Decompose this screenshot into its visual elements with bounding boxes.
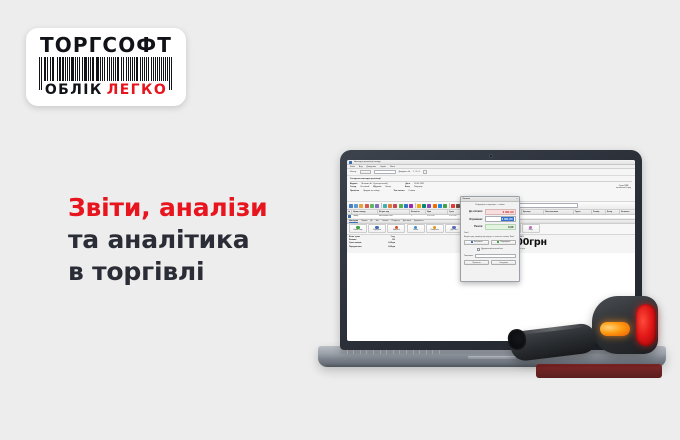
table-column-header[interactable]: Назва товару	[352, 210, 378, 214]
totals-row: Передоплата:0,00грн	[349, 246, 395, 249]
tab-3[interactable]: Звіт	[375, 220, 378, 222]
dialog-hint-text: Введіть суму, отриману від покупця, та н…	[461, 234, 519, 238]
headline-line-3: в торгівлі	[68, 256, 308, 288]
tab-2[interactable]: Дії	[370, 220, 372, 222]
calculate-button[interactable]: Розрахувати	[491, 240, 516, 245]
function-button-label: Редагувати	[373, 230, 381, 232]
headline-line-2: та аналітика	[68, 224, 308, 256]
function-button-label: Друк чека	[451, 230, 458, 232]
doc-label: Документ №	[399, 171, 411, 173]
tab-5[interactable]: Покупець	[391, 220, 399, 222]
refresh-button[interactable]	[360, 170, 371, 174]
form-section-title: Складська накладна реалізації	[350, 178, 381, 180]
table-column-header[interactable]: Колір	[606, 210, 620, 214]
copy-icon[interactable]	[383, 204, 387, 208]
row-select-icon[interactable]	[348, 215, 351, 218]
form-label-3: Склад	[350, 186, 356, 188]
form-value-5[interactable]: Готівка	[409, 190, 415, 192]
close-icon[interactable]: ×	[516, 198, 517, 200]
form-label-1: Кому	[405, 186, 410, 188]
cell-qty: 1	[410, 215, 426, 217]
received-label: Отримано:	[464, 218, 483, 221]
function-button[interactable]: Видалити	[387, 224, 405, 232]
preview-icon[interactable]	[370, 204, 374, 208]
function-button-label: Знижка	[413, 230, 418, 232]
filter-label: Фільтр:	[350, 171, 357, 173]
change-value: 0,00	[485, 224, 517, 230]
payment-dialog[interactable]: Оплата × Розрахунок з покупцем — готівка…	[460, 196, 520, 282]
cell-name: Товар	[352, 215, 378, 217]
logo-card: ТОРГСОФТ ОБЛІКЛЕГКО	[26, 28, 186, 106]
table-column-header[interactable]: Ціна	[426, 210, 448, 214]
word-icon[interactable]	[438, 204, 442, 208]
function-button[interactable]: Редагувати	[368, 224, 386, 232]
calculate-label: Розрахувати	[500, 241, 510, 243]
plus-icon	[356, 226, 359, 229]
function-button[interactable]: Повернення	[426, 224, 444, 232]
menu-item-view[interactable]: Вид	[359, 166, 363, 168]
page-title: Звіти, аналізи та аналітика в торгівлі	[68, 192, 308, 288]
received-value: 2 021,00	[501, 217, 514, 221]
table-column-header[interactable]: Артикул	[522, 210, 544, 214]
menu-item-service[interactable]: Сервіс	[380, 166, 386, 168]
print-icon[interactable]	[365, 204, 369, 208]
payment-type-select[interactable]	[475, 254, 516, 258]
barcode-scanner	[508, 292, 658, 380]
chart-icon[interactable]	[451, 204, 455, 208]
function-button[interactable]: Новий товар	[349, 224, 367, 232]
fiscal-receipt-label: Друкувати фіскальний чек	[481, 248, 503, 250]
menu-item-window[interactable]: Вікно	[390, 166, 395, 168]
form-label-5: Тип оплати	[393, 190, 404, 192]
form-label-0: Видано	[350, 183, 358, 185]
function-button[interactable]: Вихід	[522, 224, 540, 232]
doc-value: 1 / 1 / 0	[413, 171, 420, 173]
filter-bar[interactable]: Фільтр: Документ № 1 / 1 / 0	[347, 169, 635, 176]
totals-label: Передоплата:	[349, 246, 362, 249]
table-column-header[interactable]: Залишок	[620, 210, 635, 214]
due-label: До сплати:	[464, 210, 483, 213]
cell-barcode: 4820000012345	[378, 215, 410, 217]
function-button-label: Новий товар	[354, 230, 363, 232]
logo-tagline-red: ЛЕГКО	[105, 81, 169, 99]
dialog-title: Оплата	[463, 198, 470, 200]
function-button-label: Видалити	[393, 230, 400, 232]
filter-icon[interactable]	[409, 204, 413, 208]
save-icon[interactable]	[359, 204, 363, 208]
pdf-icon[interactable]	[443, 204, 447, 208]
excel-icon[interactable]	[433, 204, 437, 208]
totals-value: 0,00грн	[388, 246, 395, 249]
tab-1[interactable]: Товари	[361, 220, 367, 222]
table-column-header[interactable]: Штрих-код	[378, 210, 410, 214]
form-value-1[interactable]: Покупець	[414, 186, 423, 188]
scanner-window-icon	[636, 304, 656, 346]
sort-icon[interactable]	[417, 204, 421, 208]
open-icon[interactable]	[354, 204, 358, 208]
function-button-label: Повернення	[431, 230, 440, 232]
menu-item-file[interactable]: Файл	[350, 166, 355, 168]
due-value: 2 021,00	[485, 209, 517, 215]
promo-banner: ТОРГСОФТ ОБЛІКЛЕГКО Звіти, аналізи та ан…	[0, 0, 680, 440]
redo-icon[interactable]	[399, 204, 403, 208]
change-label: Решта:	[464, 225, 483, 228]
form-value-0[interactable]: Магазин № 1 (центральний)	[362, 183, 388, 185]
dialog-row-change: Решта: 0,00	[461, 223, 519, 231]
more-button[interactable]	[423, 170, 427, 174]
trash-icon	[395, 226, 398, 229]
headline-line-1: Звіти, аналізи	[68, 192, 308, 224]
app-title-text: Накладна реалізації товару	[354, 161, 381, 163]
no-change-label: Без решти	[474, 241, 482, 243]
cut-icon[interactable]	[375, 204, 379, 208]
new-icon[interactable]	[349, 204, 353, 208]
form-label-2: Дата	[406, 183, 411, 185]
function-button[interactable]: Знижка	[407, 224, 425, 232]
form-label-4: Від кого	[373, 186, 381, 188]
filter-input[interactable]	[374, 170, 396, 174]
refresh-icon[interactable]	[422, 204, 426, 208]
print-icon	[452, 226, 455, 229]
scanner-head	[592, 296, 658, 354]
cancel-button[interactable]: Скасувати	[491, 260, 516, 265]
toolbar-combo[interactable]	[516, 203, 578, 208]
exit-icon	[529, 226, 532, 229]
payment-type-label: Тип оплати:	[464, 255, 473, 257]
logo-tagline: ОБЛІКЛЕГКО	[26, 83, 186, 97]
tab-0[interactable]: Накладна	[349, 220, 358, 223]
received-input[interactable]: 2 021,00	[485, 216, 517, 222]
form-value-3[interactable]: Основний	[360, 186, 369, 188]
undo-icon[interactable]	[393, 204, 397, 208]
confirm-button[interactable]: Провести	[464, 260, 489, 265]
percent-icon	[414, 226, 417, 229]
return-icon	[433, 226, 436, 229]
dialog-row-due: До сплати: 2 021,00	[461, 208, 519, 216]
paste-icon[interactable]	[388, 204, 392, 208]
toolbar-separator	[381, 203, 382, 208]
form-value-4[interactable]: Касир	[385, 186, 391, 188]
form-value-2[interactable]: 18.05.2021	[414, 183, 424, 185]
logo-tagline-black: ОБЛІК	[43, 81, 105, 99]
dialog-row-received[interactable]: Отримано: 2 021,00	[461, 216, 519, 224]
edit-icon	[375, 226, 378, 229]
tab-7[interactable]: Документи	[414, 220, 423, 222]
document-icon	[349, 161, 352, 164]
tab-4[interactable]: Оплати	[382, 220, 389, 222]
menu-item-reference[interactable]: Довідники	[367, 166, 376, 168]
cell-price: 2 021,00	[426, 215, 448, 217]
totals-list: Кільк. сума:1 од.Знижка:0%Сума знижки:0,…	[349, 236, 395, 252]
export-icon[interactable]	[427, 204, 431, 208]
table-column-header[interactable]: Кількість	[410, 210, 426, 214]
function-button-label: Вихід	[529, 230, 533, 232]
form-label-6: Примітка	[350, 190, 359, 192]
tab-6[interactable]: Доставка	[403, 220, 411, 222]
find-icon[interactable]	[404, 204, 408, 208]
toolbar-separator	[415, 203, 416, 208]
logo-wordmark: ТОРГСОФТ	[26, 35, 186, 55]
scanner-mat	[536, 364, 662, 378]
toolbar-separator	[449, 203, 450, 208]
no-change-button[interactable]: Без решти	[464, 240, 489, 245]
table-column-header[interactable]: Група	[574, 210, 592, 214]
scanner-trigger-icon	[600, 322, 630, 336]
form-value-6[interactable]: Продаж за готівку	[363, 190, 379, 192]
camera-icon	[489, 154, 493, 158]
table-column-header[interactable]: Постачальник	[544, 210, 574, 214]
vat-value: включено в ціну	[616, 187, 631, 189]
table-column-header[interactable]: Розмір	[592, 210, 606, 214]
checkbox-icon[interactable]	[477, 248, 480, 251]
